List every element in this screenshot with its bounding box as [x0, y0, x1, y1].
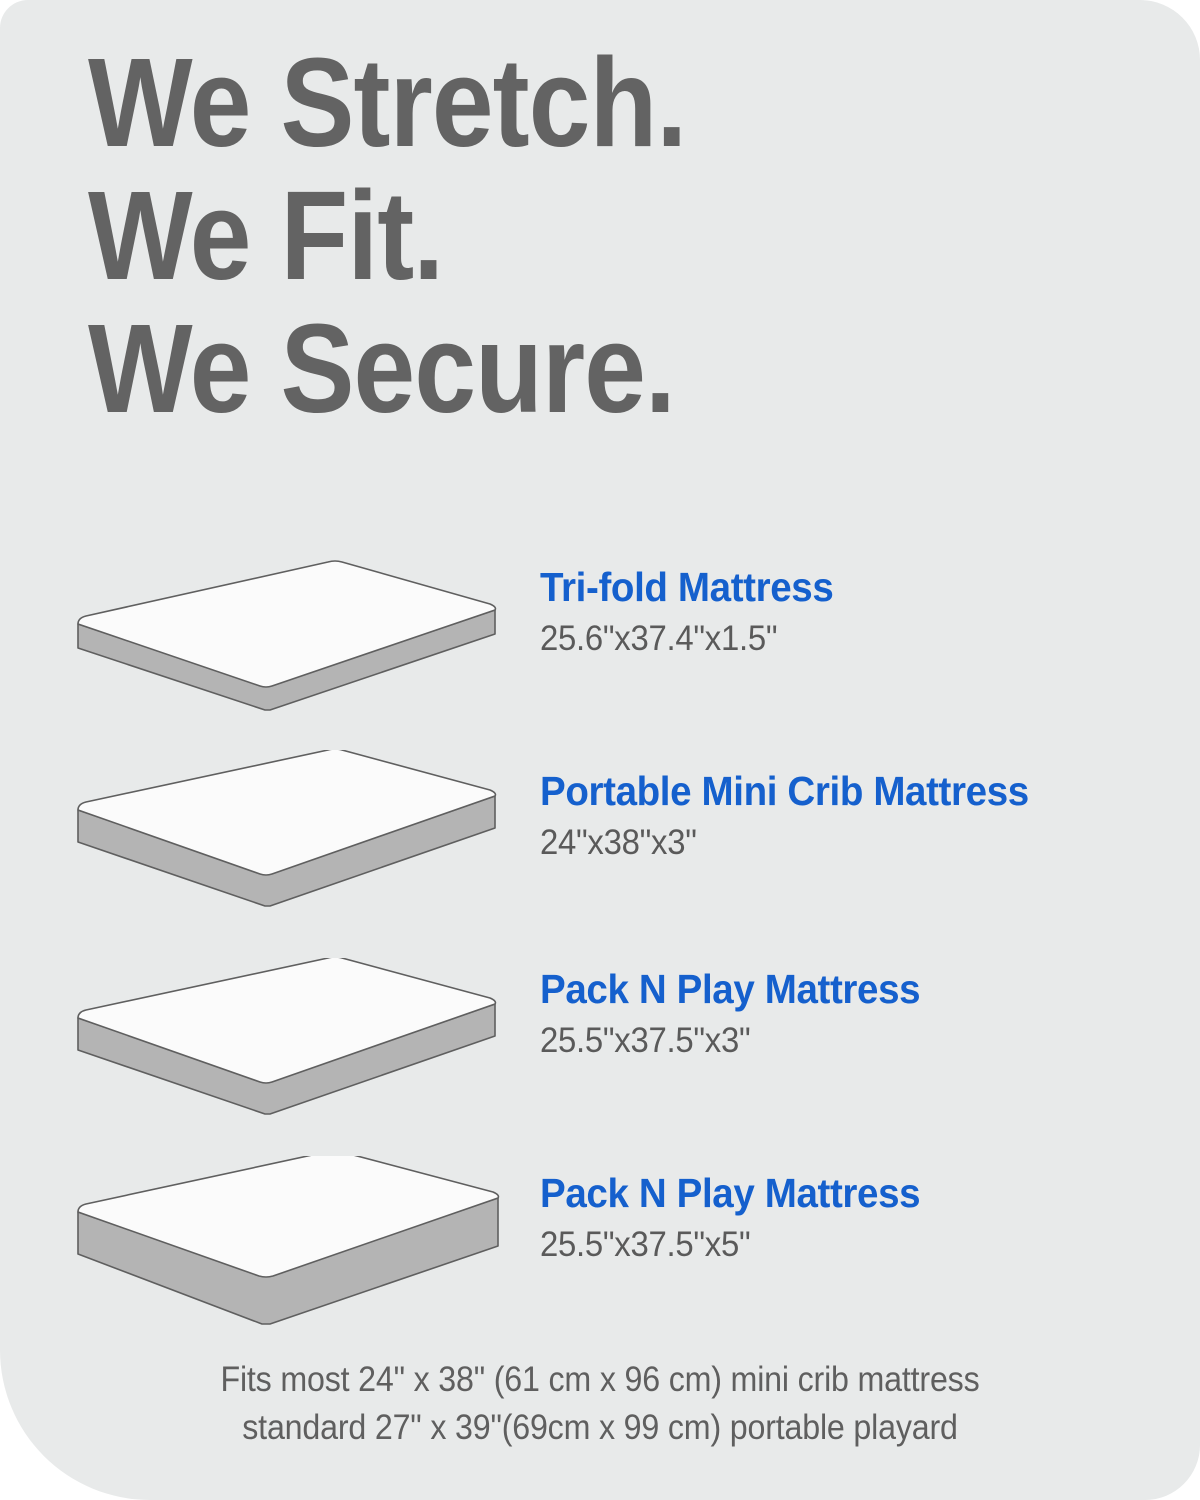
fit-note-line-2: standard 27" x 39"(69cm x 99 cm) portabl…: [48, 1404, 1152, 1452]
product-dimensions: 25.6"x37.4"x1.5": [540, 618, 1151, 660]
product-title: Tri-fold Mattress: [540, 564, 1151, 610]
product-dimensions: 24"x38"x3": [540, 822, 1151, 864]
mattress-illustration-1: [70, 560, 530, 720]
product-text-1: Tri-fold Mattress 25.6"x37.4"x1.5": [540, 564, 1190, 660]
product-title: Portable Mini Crib Mattress: [540, 768, 1151, 814]
product-list: Tri-fold Mattress 25.6"x37.4"x1.5" Porta…: [0, 0, 1200, 1500]
product-infographic-card: We Stretch. We Fit. We Secure. Tri-fold …: [0, 0, 1200, 1500]
fit-note-line-1: Fits most 24" x 38" (61 cm x 96 cm) mini…: [48, 1356, 1152, 1404]
mattress-illustration-2: [70, 750, 530, 920]
mattress-isometric-icon: [70, 750, 530, 920]
product-text-4: Pack N Play Mattress 25.5"x37.5"x5": [540, 1170, 1190, 1266]
product-title: Pack N Play Mattress: [540, 966, 1151, 1012]
mattress-illustration-4: [70, 1156, 530, 1346]
mattress-isometric-icon: [70, 1156, 530, 1346]
fit-note: Fits most 24" x 38" (61 cm x 96 cm) mini…: [0, 1356, 1200, 1452]
mattress-illustration-3: [70, 958, 530, 1128]
mattress-isometric-icon: [70, 560, 530, 720]
product-title: Pack N Play Mattress: [540, 1170, 1151, 1216]
product-dimensions: 25.5"x37.5"x3": [540, 1020, 1151, 1062]
product-dimensions: 25.5"x37.5"x5": [540, 1224, 1151, 1266]
product-text-3: Pack N Play Mattress 25.5"x37.5"x3": [540, 966, 1190, 1062]
mattress-isometric-icon: [70, 958, 530, 1128]
product-text-2: Portable Mini Crib Mattress 24"x38"x3": [540, 768, 1190, 864]
